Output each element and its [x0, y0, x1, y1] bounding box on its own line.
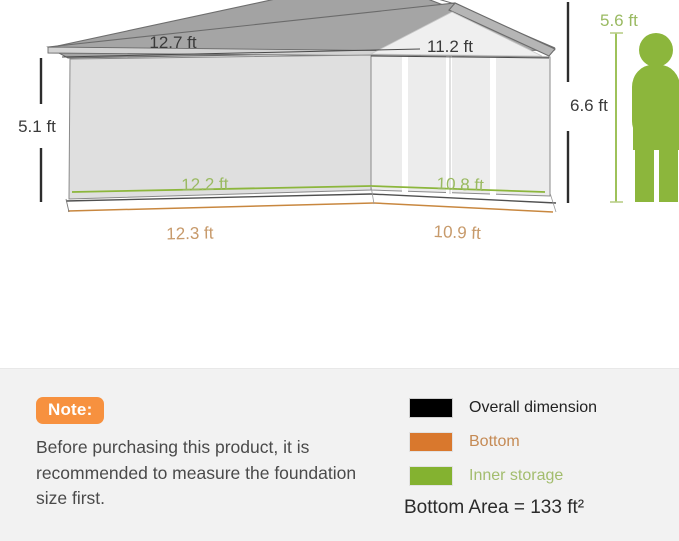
note-text: Before purchasing this product, it is re…: [36, 435, 366, 512]
footer-panel: Note: Before purchasing this product, it…: [0, 368, 679, 541]
legend-swatch-overall-dimension: [409, 398, 453, 418]
dim-roof-front-width: 11.2 ft: [427, 37, 473, 56]
dim-inner-left-width: 12.2 ft: [181, 175, 229, 195]
person-hip-block: [633, 128, 679, 150]
dim-overall-front-width: 10.9 ft: [433, 222, 481, 243]
dim-person-height: 5.6 ft: [600, 11, 638, 30]
legend-item-inner-storage: Inner storage: [409, 459, 671, 493]
legend-swatch-bottom: [409, 432, 453, 452]
dim-right-height: 6.6 ft: [570, 96, 608, 115]
front-panel-seam-3: [490, 57, 496, 195]
legend-label-bottom: Bottom: [469, 433, 520, 451]
note-block: Note: Before purchasing this product, it…: [36, 397, 366, 512]
legend-swatch-inner-storage: [409, 466, 453, 486]
legend-item-bottom: Bottom: [409, 425, 671, 459]
bottom-dimension-line-right: [374, 203, 553, 212]
shed-dimension-diagram-page: 12.7 ft 11.2 ft 5.1 ft 6.6 ft 12.2 ft 10…: [0, 0, 679, 540]
legend-item-overall-dimension: Overall dimension: [409, 391, 671, 425]
dim-overall-left-width: 12.3 ft: [166, 223, 214, 243]
bottom-area-text: Bottom Area = 133 ft²: [404, 497, 584, 519]
front-panel-seam-1: [402, 56, 408, 192]
dim-inner-front-width: 10.8 ft: [436, 174, 484, 195]
diagram-area: 12.7 ft 11.2 ft 5.1 ft 6.6 ft 12.2 ft 10…: [0, 0, 679, 368]
bottom-dimension-line-left: [68, 203, 374, 211]
person-head-icon: [639, 33, 673, 67]
legend-label-overall-dimension: Overall dimension: [469, 399, 597, 417]
shed-drawing: 12.7 ft 11.2 ft 5.1 ft 6.6 ft 12.2 ft 10…: [0, 0, 679, 368]
front-panel-seam-2: [446, 56, 452, 194]
legend-label-inner-storage: Inner storage: [469, 467, 563, 485]
person-silhouette: [632, 33, 679, 202]
legend-block: Overall dimension Bottom Inner storage: [409, 391, 671, 493]
note-badge: Note:: [36, 397, 104, 424]
dim-left-height: 5.1 ft: [18, 117, 56, 136]
dim-roof-left-width: 12.7 ft: [149, 33, 197, 52]
